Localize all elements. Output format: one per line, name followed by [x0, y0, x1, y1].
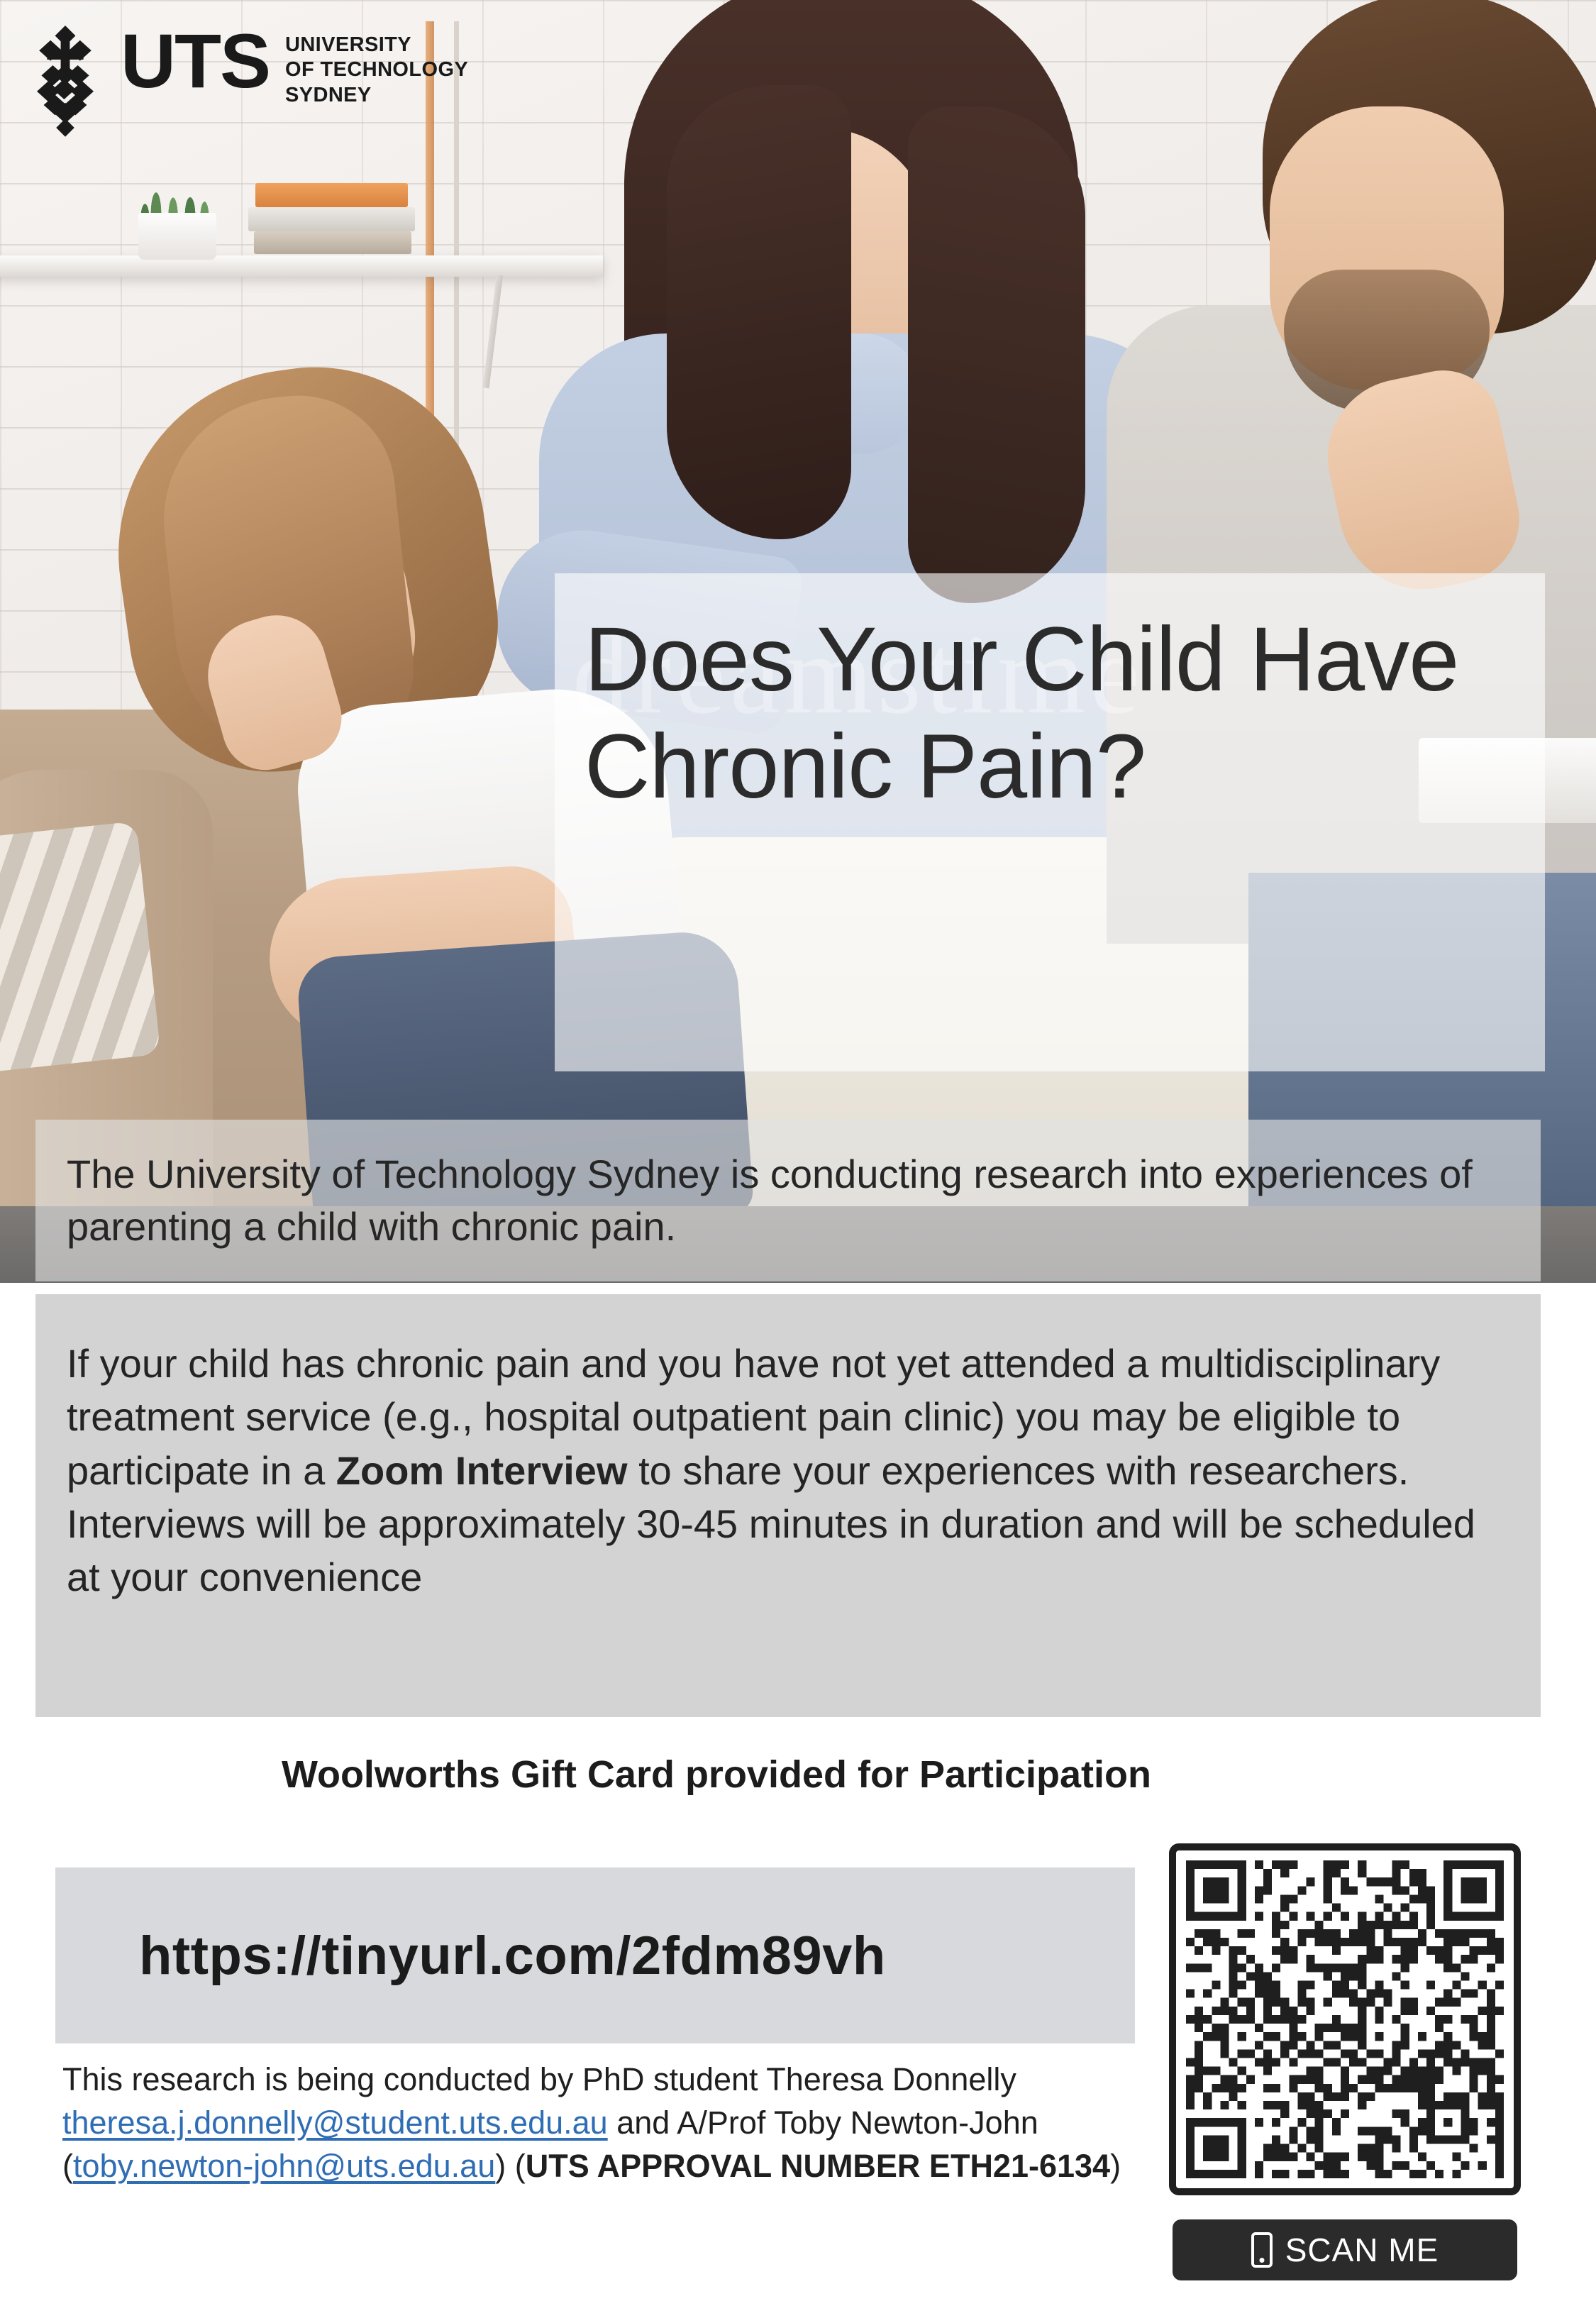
plant-leaves — [135, 153, 220, 220]
headline-overlay: Does Your Child Have Chronic Pain? — [555, 573, 1545, 1071]
poster-root: dreamstime UTS UNIVERSI — [0, 0, 1596, 2306]
contact-footer: This research is being conducted by PhD … — [62, 2058, 1126, 2188]
qr-code-canvas[interactable] — [1186, 1860, 1504, 2178]
ethics-approval-number: UTS APPROVAL NUMBER ETH21-6134 — [526, 2148, 1110, 2184]
striped-pillow — [0, 821, 161, 1073]
zoom-interview-emphasis: Zoom Interview — [336, 1448, 628, 1493]
intro-text: The University of Technology Sydney is c… — [67, 1148, 1509, 1254]
intro-band: The University of Technology Sydney is c… — [35, 1120, 1541, 1281]
footer-end-paren: ) — [1110, 2148, 1121, 2184]
incentive-text: Woolworths Gift Card provided for Partic… — [0, 1753, 1433, 1797]
book-orange — [255, 183, 408, 207]
plant-pot — [138, 213, 216, 260]
survey-url[interactable]: https://tinyurl.com/2fdm89vh — [139, 1925, 886, 1987]
scan-me-button[interactable]: SCAN ME — [1173, 2219, 1517, 2280]
mobile-phone-icon — [1251, 2232, 1273, 2268]
scan-me-label: SCAN ME — [1285, 2231, 1439, 2269]
qr-code[interactable] — [1169, 1843, 1521, 2195]
supervisor-email-link[interactable]: toby.newton-john@uts.edu.au — [73, 2148, 495, 2184]
mother-hair-right — [908, 106, 1085, 603]
mother-hair-front — [667, 85, 851, 539]
footer-close-paren: ) ( — [495, 2148, 525, 2184]
book-beige — [254, 231, 411, 254]
wall-shelf — [0, 255, 603, 277]
uts-logo: UTS UNIVERSITY OF TECHNOLOGY SYDNEY — [26, 26, 468, 139]
uts-diamond-mark-icon — [26, 26, 105, 139]
eligibility-text: If your child has chronic pain and you h… — [67, 1337, 1508, 1604]
uts-subtitle: UNIVERSITY OF TECHNOLOGY SYDNEY — [285, 26, 468, 108]
uts-wordmark: UTS — [121, 26, 270, 96]
student-email-link[interactable]: theresa.j.donnelly@student.uts.edu.au — [62, 2104, 608, 2141]
survey-url-banner[interactable]: https://tinyurl.com/2fdm89vh — [55, 1868, 1135, 2043]
eligibility-block: If your child has chronic pain and you h… — [35, 1294, 1541, 1717]
page-title: Does Your Child Have Chronic Pain? — [584, 606, 1515, 820]
footer-lead: This research is being conducted by PhD … — [62, 2061, 1016, 2097]
book-white — [248, 207, 415, 231]
